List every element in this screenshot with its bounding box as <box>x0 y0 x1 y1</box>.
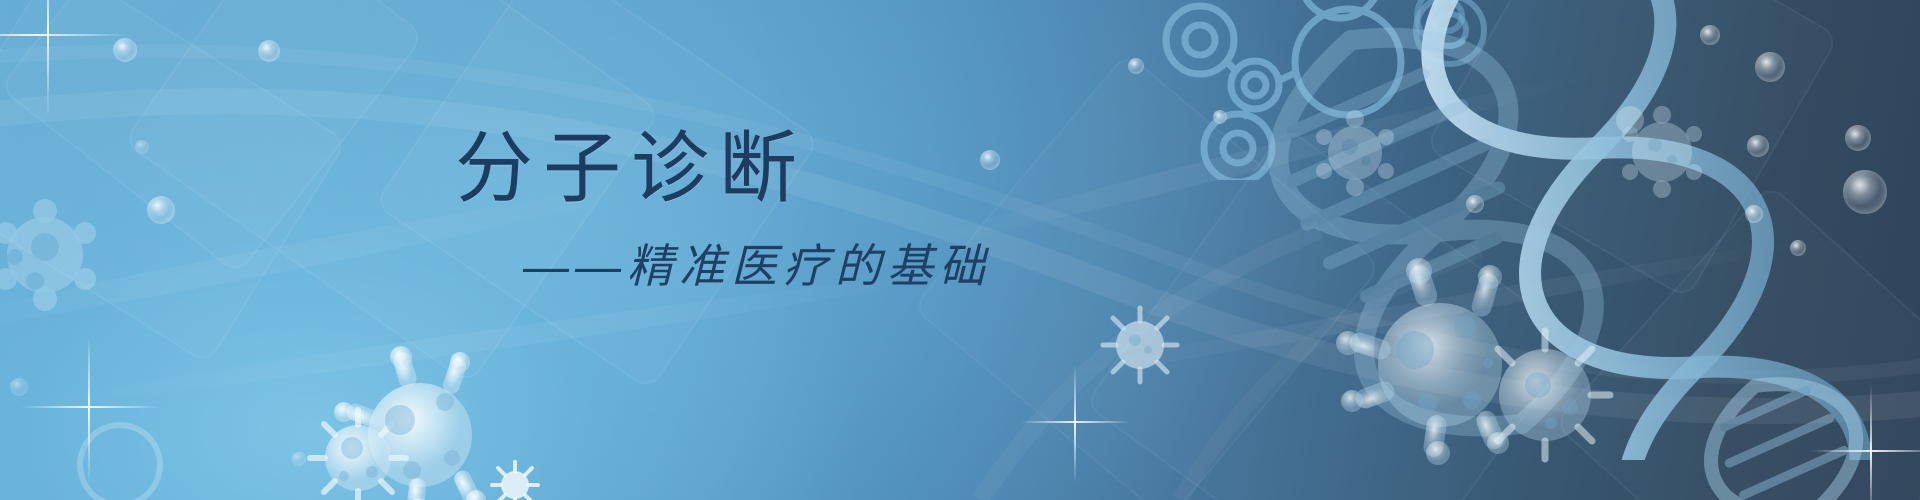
cell-bubble <box>1845 125 1871 151</box>
cell-bubble <box>147 196 175 224</box>
cell-bubble <box>1747 135 1769 157</box>
cell-bubble <box>1790 240 1806 256</box>
cell-bubble <box>1755 52 1785 82</box>
virus-icon <box>485 455 545 500</box>
virus-icon <box>1300 95 1410 205</box>
cell-bubble <box>1700 25 1720 45</box>
virus-icon <box>1600 90 1720 210</box>
cell-bubble <box>1128 58 1144 74</box>
cell-bubble <box>10 378 28 396</box>
banner-text-block: 分子诊断 ——精准医疗的基础 <box>455 128 1175 296</box>
sparkle-star-icon <box>1810 390 1920 500</box>
cell-bubble <box>1745 205 1763 223</box>
sparkle-star-icon <box>1020 365 1120 475</box>
virus-icon <box>0 195 120 325</box>
cell-bubble <box>1213 110 1227 124</box>
cell-bubble <box>292 452 306 466</box>
cell-bubble <box>1466 195 1484 213</box>
virus-cluster-icon <box>1320 255 1620 500</box>
cell-bubble <box>258 40 280 62</box>
cell-bubble <box>135 140 149 154</box>
sparkle-star-icon <box>0 0 130 120</box>
page-title: 分子诊断 <box>455 128 1175 210</box>
cell-bubble <box>1843 170 1887 214</box>
page-subtitle: ——精准医疗的基础 <box>523 230 1175 296</box>
sparkle-star-icon <box>30 340 150 470</box>
banner-root: 分子诊断 ——精准医疗的基础 <box>0 0 1920 500</box>
